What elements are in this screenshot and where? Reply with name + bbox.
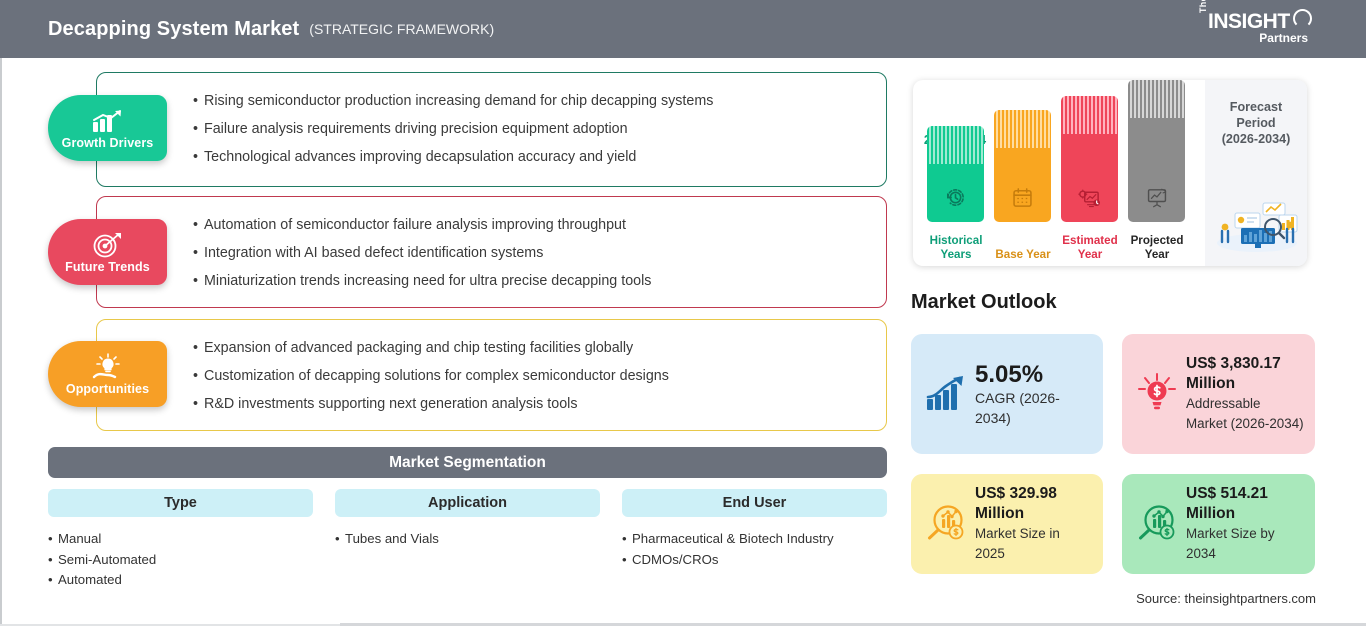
outlook-label: Market Size in 2025 — [975, 524, 1093, 564]
list-item: •Pharmaceutical & Biotech Industry — [622, 529, 887, 550]
timeline-bar-projected — [1128, 80, 1185, 222]
outlook-card-market-size-2025: US$ 329.98 Million Market Size in 2025 — [911, 474, 1103, 574]
outlook-label: Market Size by 2034 — [1186, 524, 1305, 564]
segment-title: Application — [335, 489, 600, 517]
clock-history-icon — [927, 186, 984, 209]
timeline-bar-base — [994, 110, 1051, 222]
outlook-value: US$ 329.98 Million — [975, 484, 1093, 524]
bullet-text: Integration with AI based defect identif… — [204, 245, 543, 261]
timeline-bar-estimated — [1061, 96, 1118, 222]
timeline-caption: Historical Years — [923, 234, 989, 262]
badge-label: Growth Drivers — [62, 136, 154, 150]
badge-opportunities: Opportunities — [48, 341, 167, 407]
timeline-bars: 2021-2024 Historical Years 2025 — [913, 80, 1205, 266]
page-title: Decapping System Market — [48, 18, 299, 41]
segmentation-column-type: Type •Manual •Semi-Automated •Automated — [48, 489, 313, 591]
outlook-label: CAGR (2026-2034) — [975, 388, 1093, 428]
badge-future-trends: Future Trends — [48, 219, 167, 285]
segment-item-list: •Manual •Semi-Automated •Automated — [48, 529, 313, 591]
framework-card-future-trends: •Automation of semiconductor failure ana… — [96, 196, 887, 308]
list-item: •Failure analysis requirements driving p… — [193, 115, 868, 143]
bullet-text: Automation of semiconductor failure anal… — [204, 217, 626, 233]
timeline-caption: Estimated Year — [1057, 234, 1123, 262]
bullet-list: •Expansion of advanced packaging and chi… — [97, 320, 886, 418]
outlook-card-cagr: 5.05% CAGR (2026-2034) — [911, 334, 1103, 454]
bullet-text: Failure analysis requirements driving pr… — [204, 121, 628, 137]
segment-title: Type — [48, 489, 313, 517]
infographic-page: Decapping System Market (STRATEGIC FRAME… — [0, 0, 1366, 626]
outlook-card-text: US$ 514.21 Million Market Size by 2034 — [1182, 484, 1305, 564]
list-item: •Tubes and Vials — [335, 529, 600, 550]
header-bar: Decapping System Market (STRATEGIC FRAME… — [0, 0, 1366, 58]
framework-card-opportunities: •Expansion of advanced packaging and chi… — [96, 319, 887, 431]
forecast-gear-icon — [1061, 186, 1118, 209]
timeline-caption: Projected Year — [1124, 234, 1190, 262]
page-subtitle: (STRATEGIC FRAMEWORK) — [309, 21, 494, 37]
segmentation-column-application: Application •Tubes and Vials — [335, 489, 600, 550]
forecast-timeline-panel: 2021-2024 Historical Years 2025 — [913, 80, 1307, 266]
calendar-icon — [994, 186, 1051, 209]
forecast-line-3: (2026-2034) — [1205, 131, 1307, 147]
list-item: •Manual — [48, 529, 313, 550]
outlook-card-addressable-market: US$ 3,830.17 Million Addressable Market … — [1122, 334, 1315, 454]
bullet-list: •Automation of semiconductor failure ana… — [97, 197, 886, 295]
insight-partners-logo: The INSIGHT Partners — [1196, 8, 1314, 50]
framework-card-growth-drivers: •Rising semiconductor production increas… — [96, 72, 887, 187]
forecast-line-2: Period — [1205, 115, 1307, 131]
list-item: •Customization of decapping solutions fo… — [193, 362, 868, 390]
source-attribution: Source: theinsightpartners.com — [1136, 591, 1316, 606]
left-border-strip — [0, 58, 2, 626]
segment-item-text: CDMOs/CROs — [632, 552, 718, 567]
list-item: •CDMOs/CROs — [622, 550, 887, 571]
bar-growth-icon — [921, 375, 971, 413]
forecast-period-text: Forecast Period (2026-2034) — [1205, 80, 1307, 147]
bullet-text: Technological advances improving decapsu… — [204, 149, 636, 165]
list-item: •Miniaturization trends increasing need … — [193, 267, 868, 295]
market-segmentation-heading: Market Segmentation — [48, 447, 887, 478]
badge-label: Opportunities — [66, 382, 149, 396]
segmentation-column-end-user: End User •Pharmaceutical & Biotech Indus… — [622, 489, 887, 570]
segment-item-text: Manual — [58, 531, 101, 546]
outlook-value: 5.05% — [975, 361, 1093, 388]
hand-lightbulb-icon — [91, 353, 125, 380]
badge-label: Future Trends — [65, 260, 150, 274]
bullet-text: Miniaturization trends increasing need f… — [204, 273, 651, 289]
market-outlook-title: Market Outlook — [911, 291, 1057, 314]
list-item: •Automation of semiconductor failure ana… — [193, 211, 868, 239]
target-dart-icon — [91, 231, 125, 258]
bullet-text: R&D investments supporting next generati… — [204, 396, 578, 412]
outlook-value: US$ 3,830.17 Million — [1186, 354, 1305, 394]
segment-item-list: •Tubes and Vials — [335, 529, 600, 550]
segment-item-text: Semi-Automated — [58, 552, 156, 567]
outlook-label: Addressable Market (2026-2034) — [1186, 394, 1305, 434]
list-item: •Automated — [48, 570, 313, 591]
list-item: •Technological advances improving decaps… — [193, 143, 868, 171]
bullet-text: Expansion of advanced packaging and chip… — [204, 340, 633, 356]
list-item: •Integration with AI based defect identi… — [193, 239, 868, 267]
badge-growth-drivers: Growth Drivers — [48, 95, 167, 161]
segment-title: End User — [622, 489, 887, 517]
bullet-text: Customization of decapping solutions for… — [204, 368, 669, 384]
outlook-card-text: US$ 329.98 Million Market Size in 2025 — [971, 484, 1093, 564]
outlook-card-text: 5.05% CAGR (2026-2034) — [971, 361, 1093, 428]
forecast-period-panel: Forecast Period (2026-2034) — [1205, 80, 1307, 266]
timeline-caption: Base Year — [990, 248, 1056, 262]
bulb-dollar-icon — [1132, 372, 1182, 416]
list-item: •Expansion of advanced packaging and chi… — [193, 334, 868, 362]
segment-item-text: Tubes and Vials — [345, 531, 439, 546]
growth-chart-icon — [91, 107, 125, 134]
list-item: •Rising semiconductor production increas… — [193, 87, 868, 115]
list-item: •R&D investments supporting next generat… — [193, 390, 868, 418]
outlook-card-text: US$ 3,830.17 Million Addressable Market … — [1182, 354, 1305, 434]
forecast-line-1: Forecast — [1205, 99, 1307, 115]
analytics-illustration — [1211, 191, 1303, 258]
search-chart-icon — [921, 502, 971, 546]
logo-partners-text: Partners — [1259, 31, 1308, 45]
logo-ring-icon — [1293, 9, 1312, 28]
timeline-bar-historical — [927, 126, 984, 222]
list-item: •Semi-Automated — [48, 550, 313, 571]
bullet-text: Rising semiconductor production increasi… — [204, 93, 713, 109]
segment-item-list: •Pharmaceutical & Biotech Industry •CDMO… — [622, 529, 887, 570]
segment-item-text: Pharmaceutical & Biotech Industry — [632, 531, 834, 546]
logo-the-text: The — [1198, 0, 1208, 13]
search-chart-icon — [1132, 502, 1182, 546]
presentation-icon — [1128, 186, 1185, 209]
segment-item-text: Automated — [58, 572, 122, 587]
bullet-list: •Rising semiconductor production increas… — [97, 73, 886, 171]
outlook-value: US$ 514.21 Million — [1186, 484, 1305, 524]
outlook-card-market-size-2034: US$ 514.21 Million Market Size by 2034 — [1122, 474, 1315, 574]
